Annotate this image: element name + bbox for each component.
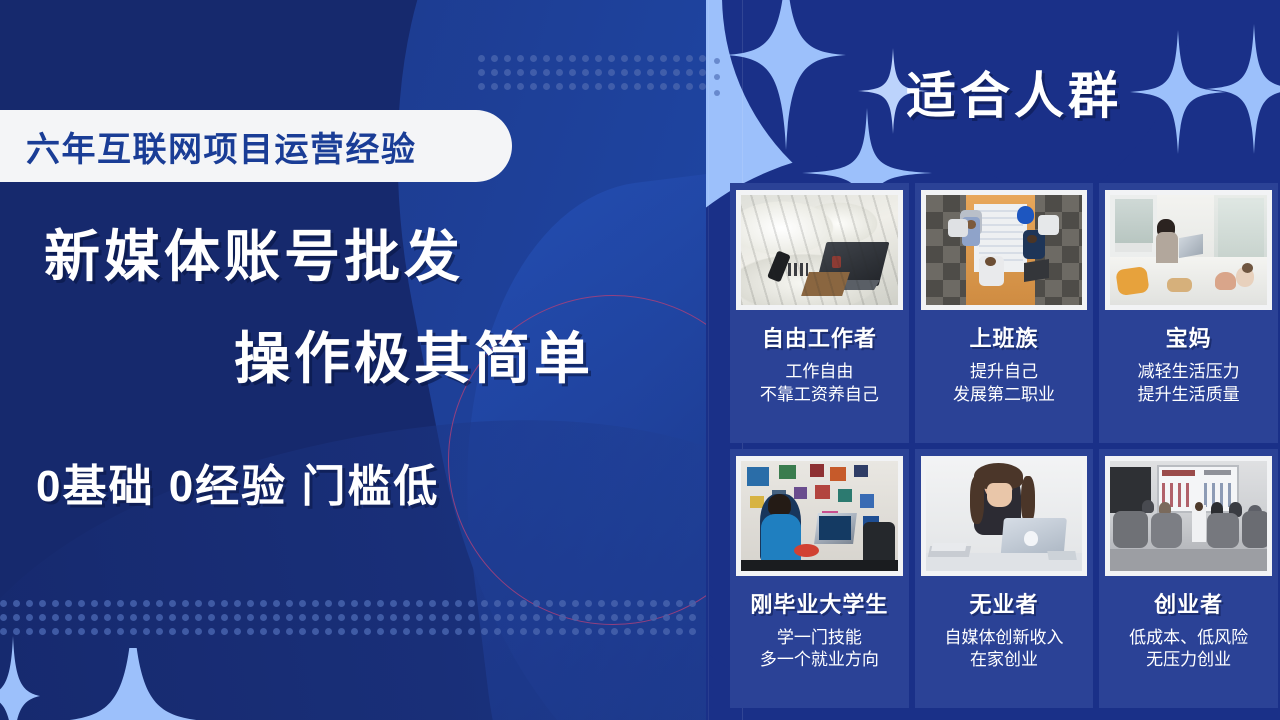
decor-dot (338, 628, 345, 635)
decor-dot (299, 600, 306, 607)
audience-card[interactable]: 宝妈减轻生活压力提升生活质量 (1099, 183, 1278, 443)
decor-dot (91, 614, 98, 621)
decor-dot (491, 69, 498, 76)
decor-dot (312, 600, 319, 607)
decor-dot (13, 600, 20, 607)
audience-card-description-line: 自媒体创新收入 (944, 627, 1063, 650)
decor-dot (377, 614, 384, 621)
decor-dot (403, 628, 410, 635)
decor-dot (491, 55, 498, 62)
audience-card[interactable]: 无业者自媒体创新收入在家创业 (915, 449, 1094, 709)
decor-dot (351, 614, 358, 621)
decor-dot (130, 614, 137, 621)
audience-card-title: 无业者 (969, 587, 1038, 619)
decor-dot (455, 600, 462, 607)
decor-dot (585, 628, 592, 635)
decor-dot (364, 614, 371, 621)
decor-dot (559, 628, 566, 635)
experience-badge: 六年互联网项目运营经验 (0, 110, 512, 182)
decor-dot (611, 600, 618, 607)
decor-dot (598, 614, 605, 621)
decor-dot (520, 614, 527, 621)
decor-dot (650, 628, 657, 635)
decor-dot (520, 600, 527, 607)
decor-dot (312, 628, 319, 635)
decor-dot (569, 83, 576, 90)
decor-dot (351, 600, 358, 607)
sparkle-icon-header-5 (1206, 24, 1280, 159)
decor-dot (377, 628, 384, 635)
sparkle-icon-bottom-left-small (0, 636, 40, 720)
decor-dot (390, 600, 397, 607)
decor-dot (195, 600, 202, 607)
audience-card-description: 低成本、低风险无压力创业 (1129, 627, 1248, 673)
decor-dot (52, 628, 59, 635)
decor-dot (65, 614, 72, 621)
decor-dot (634, 83, 641, 90)
decor-dot (234, 600, 241, 607)
decor-dot (507, 628, 514, 635)
decor-dot (585, 600, 592, 607)
decor-dot (598, 600, 605, 607)
decor-dot (598, 628, 605, 635)
decor-dot (676, 628, 683, 635)
headline-line-1: 新媒体账号批发 (44, 212, 464, 293)
decor-dot (621, 83, 628, 90)
decor-dot (65, 628, 72, 635)
decor-dot (156, 628, 163, 635)
decor-dot (364, 600, 371, 607)
decor-dot (530, 55, 537, 62)
decor-dot (582, 83, 589, 90)
decor-dot (390, 628, 397, 635)
audience-card-description-line: 低成本、低风险 (1129, 627, 1248, 650)
decor-dot (517, 83, 524, 90)
decor-dot (260, 614, 267, 621)
decor-dot (624, 614, 631, 621)
decor-dot (478, 83, 485, 90)
audience-card-description-line: 减轻生活压力 (1138, 361, 1240, 384)
decor-dot (504, 69, 511, 76)
decor-dot (714, 58, 720, 64)
decor-dot (117, 600, 124, 607)
decor-dot (686, 55, 693, 62)
decor-dot (182, 614, 189, 621)
decor-dot (169, 614, 176, 621)
decor-dot (351, 628, 358, 635)
decor-dot (663, 600, 670, 607)
decor-dot (621, 69, 628, 76)
decor-dot (429, 628, 436, 635)
decor-dot (689, 628, 696, 635)
decor-dot (273, 628, 280, 635)
decor-dot (416, 614, 423, 621)
decor-dot (442, 614, 449, 621)
decor-dot (572, 614, 579, 621)
decor-dot (543, 69, 550, 76)
decor-dot (504, 83, 511, 90)
decor-dot (156, 600, 163, 607)
decor-dot (481, 628, 488, 635)
decor-dot (52, 600, 59, 607)
decor-dot (530, 69, 537, 76)
audience-card-title: 自由工作者 (762, 321, 877, 353)
decor-dot (582, 69, 589, 76)
audience-card[interactable]: 创业者低成本、低风险无压力创业 (1099, 449, 1278, 709)
decor-dot (390, 614, 397, 621)
decor-dot (338, 614, 345, 621)
decor-dot (26, 628, 33, 635)
decor-dot (494, 628, 501, 635)
decor-dot (533, 628, 540, 635)
audience-card-description-line: 发展第二职业 (953, 384, 1055, 407)
decor-dot (517, 69, 524, 76)
decor-dot (546, 600, 553, 607)
decor-dot (104, 600, 111, 607)
audience-card-description: 工作自由不靠工资养自己 (760, 361, 879, 407)
decor-dot (442, 600, 449, 607)
decor-dot (325, 628, 332, 635)
decor-dot (91, 600, 98, 607)
photo-stressed-woman-laptop (921, 456, 1088, 576)
audience-card-title: 刚毕业大学生 (750, 587, 888, 619)
decor-dot (299, 614, 306, 621)
audience-card[interactable]: 刚毕业大学生学一门技能多一个就业方向 (730, 449, 909, 709)
decor-dot (156, 614, 163, 621)
decor-dot (403, 600, 410, 607)
decor-dot (91, 628, 98, 635)
audience-card[interactable]: 自由工作者工作自由不靠工资养自己 (730, 183, 909, 443)
decor-dot (0, 600, 7, 607)
decor-dot (624, 628, 631, 635)
decor-dot (556, 83, 563, 90)
decor-dot (647, 55, 654, 62)
decor-dot (416, 628, 423, 635)
decor-dot (234, 614, 241, 621)
decor-dot (312, 614, 319, 621)
audience-card-description: 减轻生活压力提升生活质量 (1138, 361, 1240, 407)
decor-dot (494, 614, 501, 621)
decor-dot (26, 600, 33, 607)
decor-dot (247, 614, 254, 621)
decor-dot (481, 614, 488, 621)
decor-dot (689, 600, 696, 607)
decor-dot (676, 600, 683, 607)
decor-dot (673, 83, 680, 90)
decor-dot (673, 69, 680, 76)
decor-dot (234, 628, 241, 635)
decor-dot (660, 55, 667, 62)
decor-dot (182, 600, 189, 607)
decor-dot (247, 600, 254, 607)
decor-dot (13, 628, 20, 635)
decor-dot (676, 614, 683, 621)
experience-badge-label: 六年互联网项目运营经验 (26, 122, 417, 171)
decor-dot (634, 69, 641, 76)
decor-dot (468, 614, 475, 621)
decor-dot (608, 83, 615, 90)
decor-dot (481, 600, 488, 607)
decor-dot (0, 614, 7, 621)
sparkle-icon-bottom-left-large (48, 648, 218, 720)
decor-dot (699, 55, 706, 62)
decor-dot (673, 55, 680, 62)
decor-dot (468, 628, 475, 635)
decor-dot (429, 600, 436, 607)
decor-dot (608, 69, 615, 76)
audience-card-description-line: 多一个就业方向 (760, 649, 879, 672)
decor-dot (478, 69, 485, 76)
audience-card-description-line: 学一门技能 (760, 627, 879, 650)
decor-dot (650, 600, 657, 607)
decor-dot (569, 55, 576, 62)
decor-dot (714, 90, 720, 96)
decor-dot (299, 628, 306, 635)
decor-dot (208, 628, 215, 635)
decor-dot (39, 614, 46, 621)
decor-dot (478, 55, 485, 62)
decor-dot (208, 600, 215, 607)
decor-dot (208, 614, 215, 621)
photo-conference-presentation (1105, 456, 1272, 576)
audience-card-description-line: 无压力创业 (1129, 649, 1248, 672)
audience-card[interactable]: 上班族提升自己发展第二职业 (915, 183, 1094, 443)
decor-dot (26, 614, 33, 621)
decor-dot (130, 628, 137, 635)
decor-dot (663, 614, 670, 621)
audience-card-description-line: 提升生活质量 (1138, 384, 1240, 407)
decor-dot (182, 628, 189, 635)
decor-dot (221, 628, 228, 635)
decor-dot (634, 55, 641, 62)
decor-dot (260, 628, 267, 635)
decor-dot (530, 83, 537, 90)
decor-dot (39, 600, 46, 607)
decor-dot (52, 614, 59, 621)
decor-dot (686, 83, 693, 90)
decor-dot (699, 69, 706, 76)
decor-dot (247, 628, 254, 635)
decor-dot (533, 600, 540, 607)
decor-dot (325, 614, 332, 621)
decor-dot (416, 600, 423, 607)
left-hero-panel: 六年互联网项目运营经验 新媒体账号批发 操作极其简单 0基础 0经验 门槛低 (0, 0, 706, 720)
decor-dot (595, 69, 602, 76)
decor-dot (13, 614, 20, 621)
decor-dot (104, 614, 111, 621)
decor-dot (663, 628, 670, 635)
decor-dot (78, 600, 85, 607)
decor-dot (494, 600, 501, 607)
decor-dot (621, 55, 628, 62)
decor-dot (637, 614, 644, 621)
decor-dot (195, 614, 202, 621)
decor-dot (595, 83, 602, 90)
decor-dot (442, 628, 449, 635)
decor-dot (455, 628, 462, 635)
audience-card-description: 自媒体创新收入在家创业 (944, 627, 1063, 673)
decor-dot (104, 628, 111, 635)
audience-card-title: 创业者 (1154, 587, 1223, 619)
decor-dot (117, 614, 124, 621)
decor-dot (637, 628, 644, 635)
decor-dot (611, 628, 618, 635)
decor-dot (78, 614, 85, 621)
decor-dot (468, 600, 475, 607)
decor-dot (572, 628, 579, 635)
decor-dot (221, 600, 228, 607)
headline-line-2: 操作极其简单 (234, 314, 594, 395)
decor-dot (169, 600, 176, 607)
decor-dot (543, 55, 550, 62)
photo-office-meeting-overhead (921, 190, 1088, 310)
panel-divider-outer (708, 0, 709, 720)
decor-dot (491, 83, 498, 90)
right-audience-panel: 适合人群 自由工作者工作自由不靠工资养自己 上班族提升自己发展第二职业 (706, 0, 1280, 720)
decor-dot (130, 600, 137, 607)
decor-dot (686, 69, 693, 76)
decor-dot (611, 614, 618, 621)
decor-dot (507, 600, 514, 607)
decor-dot (660, 83, 667, 90)
audience-card-title: 上班族 (969, 321, 1038, 353)
decor-dot (504, 55, 511, 62)
decor-dot (0, 628, 7, 635)
decor-dot (429, 614, 436, 621)
decor-dot (714, 74, 720, 80)
headline-subline: 0基础 0经验 门槛低 (36, 450, 439, 514)
decor-dot (559, 600, 566, 607)
decor-dot (556, 55, 563, 62)
decor-dot (647, 83, 654, 90)
decor-dot (143, 614, 150, 621)
decor-dot (556, 69, 563, 76)
decor-dot (533, 614, 540, 621)
decor-dot (273, 614, 280, 621)
decor-dot (650, 614, 657, 621)
decor-dot (143, 628, 150, 635)
decor-dot (325, 600, 332, 607)
decor-dot (608, 55, 615, 62)
audience-card-description-line: 在家创业 (944, 649, 1063, 672)
decor-dot (546, 628, 553, 635)
decor-dot (403, 614, 410, 621)
audience-card-description: 提升自己发展第二职业 (953, 361, 1055, 407)
decor-dot (689, 614, 696, 621)
decor-dot (273, 600, 280, 607)
audience-card-grid: 自由工作者工作自由不靠工资养自己 上班族提升自己发展第二职业 宝妈减轻生活压力提… (730, 183, 1278, 708)
decor-dot (582, 55, 589, 62)
section-title: 适合人群 (906, 56, 1122, 128)
decor-dot (595, 55, 602, 62)
decor-dot (455, 614, 462, 621)
decor-dot (546, 614, 553, 621)
decor-dot (364, 628, 371, 635)
decor-dot (143, 600, 150, 607)
audience-card-description-line: 提升自己 (953, 361, 1055, 384)
decor-dot (39, 628, 46, 635)
decor-dot (195, 628, 202, 635)
decor-dot (699, 83, 706, 90)
decor-dot (585, 614, 592, 621)
audience-card-description: 学一门技能多一个就业方向 (760, 627, 879, 673)
decor-dot (221, 614, 228, 621)
photo-laptop-on-bed (736, 190, 903, 310)
decor-dot (647, 69, 654, 76)
audience-card-title: 宝妈 (1166, 321, 1212, 353)
decor-dot (507, 614, 514, 621)
audience-card-description-line: 工作自由 (760, 361, 879, 384)
decor-dot (65, 600, 72, 607)
decor-dot (286, 614, 293, 621)
decor-dot (377, 600, 384, 607)
photo-student-at-desk (736, 456, 903, 576)
decor-dot (520, 628, 527, 635)
decor-dot (286, 600, 293, 607)
poster-canvas: 六年互联网项目运营经验 新媒体账号批发 操作极其简单 0基础 0经验 门槛低 (0, 0, 1280, 720)
decor-dot (286, 628, 293, 635)
decor-dot (624, 600, 631, 607)
decor-dot (569, 69, 576, 76)
decor-dot (117, 628, 124, 635)
decor-dot (78, 628, 85, 635)
decor-dot (572, 600, 579, 607)
decor-dot (559, 614, 566, 621)
decor-dot (637, 600, 644, 607)
decor-dot (543, 83, 550, 90)
decor-dot (660, 69, 667, 76)
audience-card-description-line: 不靠工资养自己 (760, 384, 879, 407)
decor-dot (338, 600, 345, 607)
photo-mother-with-laptop-and-kids (1105, 190, 1272, 310)
decor-dot (260, 600, 267, 607)
decor-dot (169, 628, 176, 635)
decor-dot (517, 55, 524, 62)
